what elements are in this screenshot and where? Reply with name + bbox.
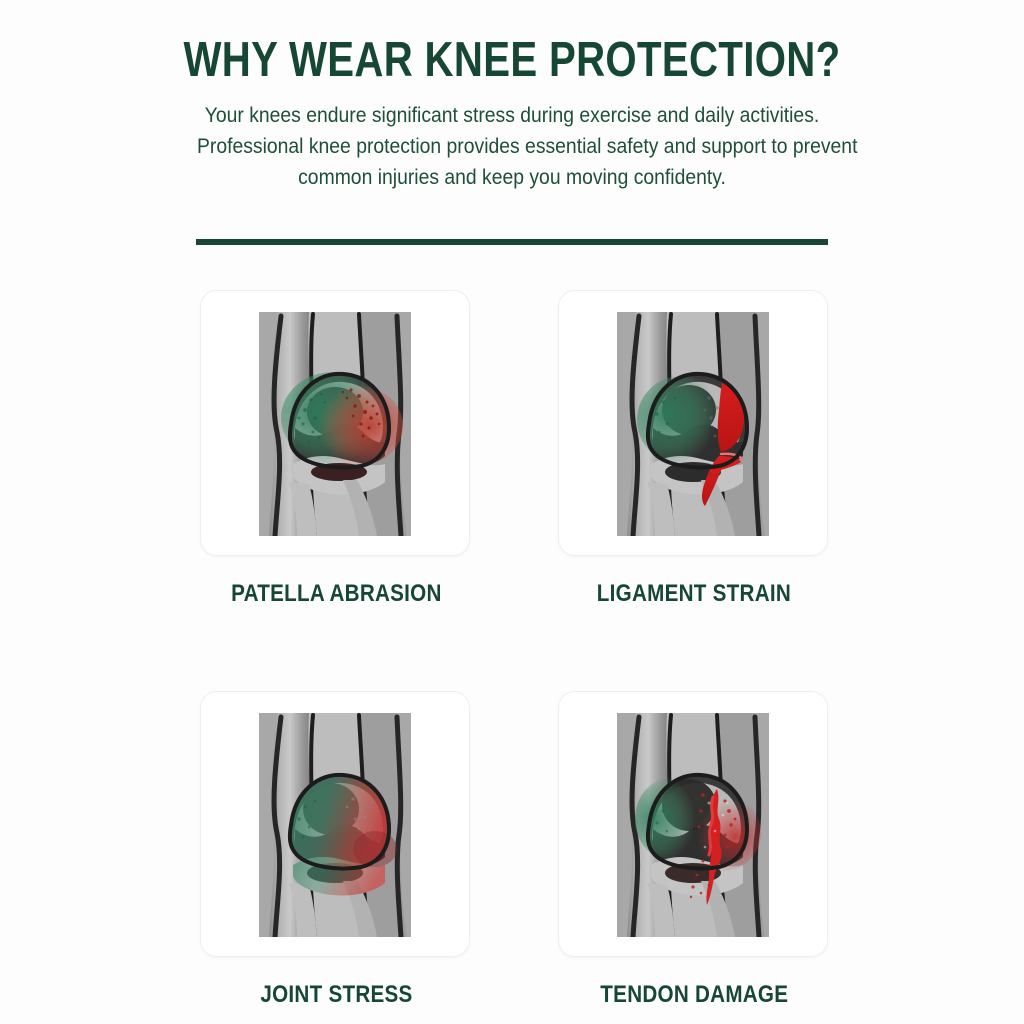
injury-card-tendon-damage[interactable] [558,691,828,957]
card-cell-tendon-damage: TENDON DAMAGE [558,691,830,1009]
header: WHY WEAR KNEE PROTECTION? Your knees end… [0,34,1024,193]
card-row-bottom: JOINT STRESS [200,691,830,1009]
card-label-joint-stress: JOINT STRESS [200,981,472,1009]
injury-card-grid: PATELLA ABRASION [200,290,830,1009]
card-label-tendon-damage: TENDON DAMAGE [558,981,830,1009]
knee-anatomy-icon-patella-abrasion [247,306,423,542]
knee-anatomy-icon-tendon-damage [605,707,781,943]
card-row-top: PATELLA ABRASION [200,290,830,608]
subtitle-line-3: common injuries and keep you moving conf… [197,162,827,193]
injury-card-ligament-strain[interactable] [558,290,828,556]
knee-anatomy-icon-joint-stress [247,707,423,943]
injury-card-patella-abrasion[interactable] [200,290,470,556]
section-divider [196,239,828,245]
knee-anatomy-icon-ligament-strain [605,306,781,542]
subtitle-line-1: Your knees endure significant stress dur… [197,100,827,131]
injury-card-joint-stress[interactable] [200,691,470,957]
card-label-patella-abrasion: PATELLA ABRASION [200,580,472,608]
subtitle-line-2: Professional knee protection provides es… [197,131,827,162]
infographic-page: WHY WEAR KNEE PROTECTION? Your knees end… [0,0,1024,1024]
page-subtitle: Your knees endure significant stress dur… [162,100,862,193]
card-cell-joint-stress: JOINT STRESS [200,691,472,1009]
page-title: WHY WEAR KNEE PROTECTION? [92,34,932,86]
card-cell-ligament-strain: LIGAMENT STRAIN [558,290,830,608]
card-label-ligament-strain: LIGAMENT STRAIN [558,580,830,608]
card-cell-patella-abrasion: PATELLA ABRASION [200,290,472,608]
